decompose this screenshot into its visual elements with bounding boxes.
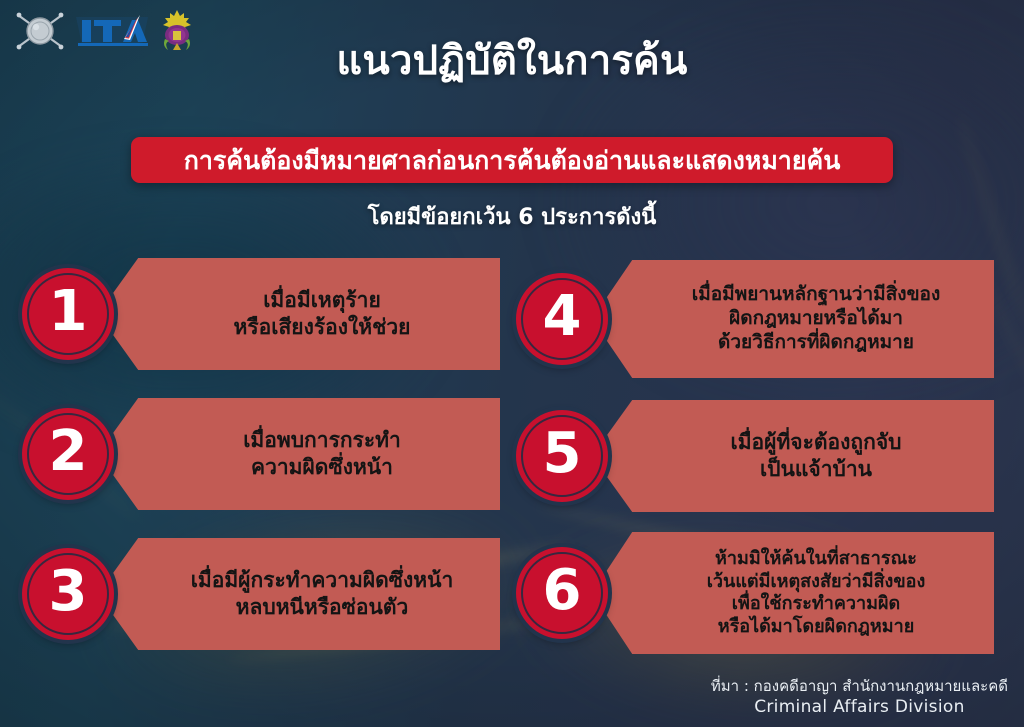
item-number: 3 xyxy=(49,564,88,620)
item-text-line: เมื่อผู้ที่จะต้องถูกจับ xyxy=(731,429,902,456)
item-text-line: เมื่อมีผู้กระทำความผิดซึ่งหน้า xyxy=(191,567,454,594)
item-arrow-banner: เมื่อผู้ที่จะต้องถูกจับ เป็นแจ้าบ้าน xyxy=(592,400,994,512)
footer-source-thai: ที่มา : กองคดีอาญา สำนักงานกฎหมายและคดี xyxy=(711,676,1008,696)
list-item: 1 เมื่อมีเหตุร้าย หรือเสียงร้องให้ช่วย xyxy=(22,258,500,370)
item-number-badge: 5 xyxy=(516,410,608,502)
item-text-line: ด้วยวิธีการที่ผิดกฎหมาย xyxy=(692,331,941,355)
item-arrow-banner: เมื่อมีผู้กระทำความผิดซึ่งหน้า หลบหนีหรื… xyxy=(98,538,500,650)
headline-banner-text: การค้นต้องมีหมายศาลก่อนการค้นต้องอ่านและ… xyxy=(184,148,841,173)
item-number-badge: 1 xyxy=(22,268,114,360)
list-item: 3 เมื่อมีผู้กระทำความผิดซึ่งหน้า หลบหนีห… xyxy=(22,538,500,650)
item-number: 4 xyxy=(543,289,582,345)
item-arrow-banner: ห้ามมิให้ค้นในที่สาธารณะ เว้นแต่มีเหตุสง… xyxy=(592,532,994,654)
page-title: แนวปฏิบัติในการค้น xyxy=(0,38,1024,84)
item-number-badge: 2 xyxy=(22,408,114,500)
item-text-line: เมื่อมีเหตุร้าย xyxy=(234,287,411,314)
item-number: 5 xyxy=(543,426,582,482)
item-text: เมื่อพบการกระทำ ความผิดซึ่งหน้า xyxy=(243,427,401,481)
exception-column-left: 1 เมื่อมีเหตุร้าย หรือเสียงร้องให้ช่วย 2 xyxy=(22,258,522,658)
item-text-line: เว้นแต่มีเหตุสงสัยว่ามีสิ่งของ xyxy=(707,571,926,594)
item-text-line: หรือได้มาโดยผิดกฎหมาย xyxy=(707,616,926,639)
item-number: 2 xyxy=(49,424,88,480)
item-text: ห้ามมิให้ค้นในที่สาธารณะ เว้นแต่มีเหตุสง… xyxy=(707,548,926,638)
item-text-line: หลบหนีหรือซ่อนตัว xyxy=(191,594,454,621)
list-item: 6 ห้ามมิให้ค้นในที่สาธารณะ เว้นแต่มีเหตุ… xyxy=(516,532,994,654)
item-arrow-banner: เมื่อมีพยานหลักฐานว่ามีสิ่งของ ผิดกฎหมาย… xyxy=(592,260,994,378)
infographic-page: แนวปฏิบัติในการค้น การค้นต้องมีหมายศาลก่… xyxy=(0,0,1024,727)
item-number: 1 xyxy=(49,284,88,340)
item-number: 6 xyxy=(543,563,582,619)
subtitle: โดยมีข้อยกเว้น 6 ประการดังนี้ xyxy=(0,199,1024,234)
item-text-line: เพื่อใช้กระทำความผิด xyxy=(707,593,926,616)
item-text-line: เมื่อมีพยานหลักฐานว่ามีสิ่งของ xyxy=(692,283,941,307)
list-item: 2 เมื่อพบการกระทำ ความผิดซึ่งหน้า xyxy=(22,398,500,510)
footer: ที่มา : กองคดีอาญา สำนักงานกฎหมายและคดี … xyxy=(711,676,1008,719)
item-text-line: เป็นแจ้าบ้าน xyxy=(731,456,902,483)
list-item: 5 เมื่อผู้ที่จะต้องถูกจับ เป็นแจ้าบ้าน xyxy=(516,400,994,512)
item-text: เมื่อมีพยานหลักฐานว่ามีสิ่งของ ผิดกฎหมาย… xyxy=(692,283,941,355)
item-arrow-banner: เมื่อพบการกระทำ ความผิดซึ่งหน้า xyxy=(98,398,500,510)
item-text-line: หรือเสียงร้องให้ช่วย xyxy=(234,314,411,341)
item-text-line: เมื่อพบการกระทำ xyxy=(243,427,401,454)
item-arrow-banner: เมื่อมีเหตุร้าย หรือเสียงร้องให้ช่วย xyxy=(98,258,500,370)
headline-banner: การค้นต้องมีหมายศาลก่อนการค้นต้องอ่านและ… xyxy=(131,137,893,183)
item-text: เมื่อมีเหตุร้าย หรือเสียงร้องให้ช่วย xyxy=(234,287,411,341)
list-item: 4 เมื่อมีพยานหลักฐานว่ามีสิ่งของ ผิดกฎหม… xyxy=(516,260,994,378)
item-text: เมื่อมีผู้กระทำความผิดซึ่งหน้า หลบหนีหรื… xyxy=(191,567,454,621)
item-number-badge: 4 xyxy=(516,273,608,365)
item-text-line: ห้ามมิให้ค้นในที่สาธารณะ xyxy=(707,548,926,571)
item-number-badge: 6 xyxy=(516,547,608,639)
exception-items: 1 เมื่อมีเหตุร้าย หรือเสียงร้องให้ช่วย 2 xyxy=(0,258,1024,658)
footer-source-english: Criminal Affairs Division xyxy=(711,696,1008,719)
item-text-line: ความผิดซึ่งหน้า xyxy=(243,454,401,481)
item-text-line: ผิดกฎหมายหรือได้มา xyxy=(692,307,941,331)
item-text: เมื่อผู้ที่จะต้องถูกจับ เป็นแจ้าบ้าน xyxy=(731,429,902,483)
item-number-badge: 3 xyxy=(22,548,114,640)
exception-column-right: 4 เมื่อมีพยานหลักฐานว่ามีสิ่งของ ผิดกฎหม… xyxy=(516,258,1016,658)
